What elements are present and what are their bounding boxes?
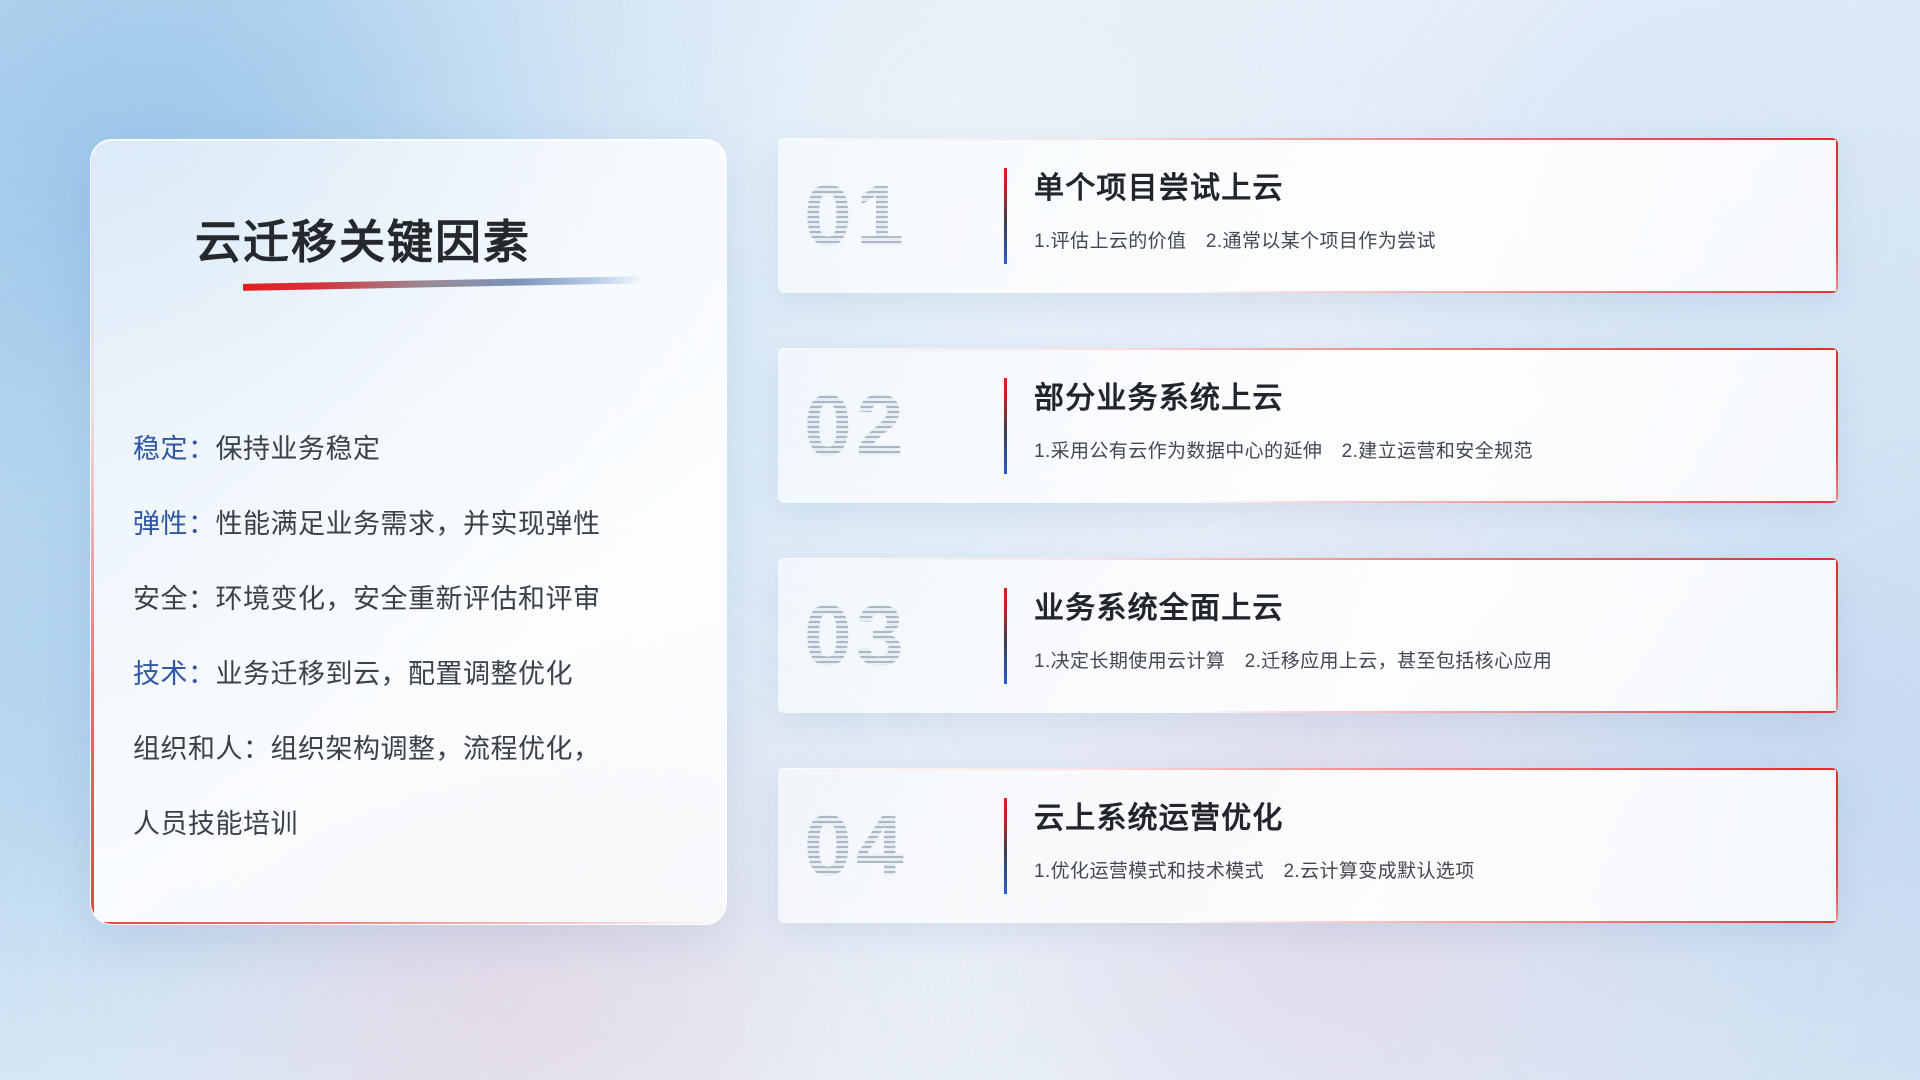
key-factors-list: 稳定：保持业务稳定弹性：性能满足业务需求，并实现弹性安全：环境变化，安全重新评估… <box>133 412 702 862</box>
stage-card[interactable]: 0303业务系统全面上云1.决定长期使用云计算 2.迁移应用上云，甚至包括核心应… <box>778 558 1838 713</box>
card-bottom-accent <box>1181 921 1838 923</box>
card-divider-bar <box>1004 588 1007 684</box>
card-description: 1.采用公有云作为数据中心的延伸 2.建立运营和安全规范 <box>1034 436 1533 463</box>
key-factor-text: 人员技能培训 <box>133 809 298 839</box>
stage-card[interactable]: 0101单个项目尝试上云1.评估上云的价值 2.通常以某个项目作为尝试 <box>778 138 1838 293</box>
key-factor-line: 弹性：性能满足业务需求，并实现弹性 <box>133 487 702 562</box>
card-bottom-accent <box>1181 291 1838 293</box>
card-number-watermark: 04 <box>804 786 908 906</box>
card-right-accent <box>1836 348 1838 503</box>
card-description: 1.决定长期使用云计算 2.迁移应用上云，甚至包括核心应用 <box>1034 646 1552 673</box>
card-number-watermark: 03 <box>804 576 908 696</box>
card-bottom-accent <box>1181 501 1838 503</box>
card-title: 单个项目尝试上云 <box>1034 163 1284 207</box>
key-factors-panel: 云迁移关键因素 稳定：保持业务稳定弹性：性能满足业务需求，并实现弹性安全：环境变… <box>90 139 727 925</box>
card-top-accent <box>778 138 1838 140</box>
card-number-watermark: 02 <box>804 366 908 486</box>
card-top-accent <box>778 558 1838 560</box>
card-divider-bar <box>1004 168 1007 264</box>
key-factor-label: 技术： <box>133 659 216 689</box>
key-factor-line: 组织和人：组织架构调整，流程优化， <box>133 712 702 787</box>
key-factor-label: 组织和人： <box>133 734 271 764</box>
stage-card[interactable]: 0202部分业务系统上云1.采用公有云作为数据中心的延伸 2.建立运营和安全规范 <box>778 348 1838 503</box>
card-right-accent <box>1836 558 1838 713</box>
key-factor-line: 稳定：保持业务稳定 <box>133 412 702 487</box>
card-top-accent <box>778 768 1838 770</box>
card-title: 业务系统全面上云 <box>1034 583 1284 627</box>
card-description: 1.评估上云的价值 2.通常以某个项目作为尝试 <box>1034 226 1436 253</box>
card-right-accent <box>1836 768 1838 923</box>
key-factor-label: 安全： <box>133 584 216 614</box>
key-factor-text: 业务迁移到云，配置调整优化 <box>216 659 574 689</box>
card-title: 部分业务系统上云 <box>1034 373 1284 417</box>
card-number-watermark: 01 <box>804 156 908 276</box>
stage-cards-list: 0101单个项目尝试上云1.评估上云的价值 2.通常以某个项目作为尝试0202部… <box>778 138 1838 978</box>
card-divider-bar <box>1004 378 1007 474</box>
card-divider-bar <box>1004 798 1007 894</box>
key-factor-text: 性能满足业务需求，并实现弹性 <box>216 509 601 539</box>
card-bottom-accent <box>1181 711 1838 713</box>
key-factor-text: 保持业务稳定 <box>216 434 381 464</box>
key-factor-text: 组织架构调整，流程优化， <box>271 734 601 764</box>
card-top-accent <box>778 348 1838 350</box>
key-factor-line: 技术：业务迁移到云，配置调整优化 <box>133 637 702 712</box>
slide-stage: 云迁移关键因素 稳定：保持业务稳定弹性：性能满足业务需求，并实现弹性安全：环境变… <box>0 0 1920 1080</box>
key-factor-label: 弹性： <box>133 509 216 539</box>
key-factor-label: 稳定： <box>133 434 216 464</box>
card-description: 1.优化运营模式和技术模式 2.云计算变成默认选项 <box>1034 856 1475 883</box>
title-underline-gradient <box>243 276 645 291</box>
panel-bottom-accent-bar <box>91 922 726 924</box>
stage-card[interactable]: 0404云上系统运营优化1.优化运营模式和技术模式 2.云计算变成默认选项 <box>778 768 1838 923</box>
panel-left-accent-bar <box>91 140 94 924</box>
page-title: 云迁移关键因素 <box>195 206 531 272</box>
card-title: 云上系统运营优化 <box>1034 793 1284 837</box>
key-factor-line: 人员技能培训 <box>133 787 702 862</box>
key-factor-line: 安全：环境变化，安全重新评估和评审 <box>133 562 702 637</box>
key-factor-text: 环境变化，安全重新评估和评审 <box>216 584 601 614</box>
card-right-accent <box>1836 138 1838 293</box>
